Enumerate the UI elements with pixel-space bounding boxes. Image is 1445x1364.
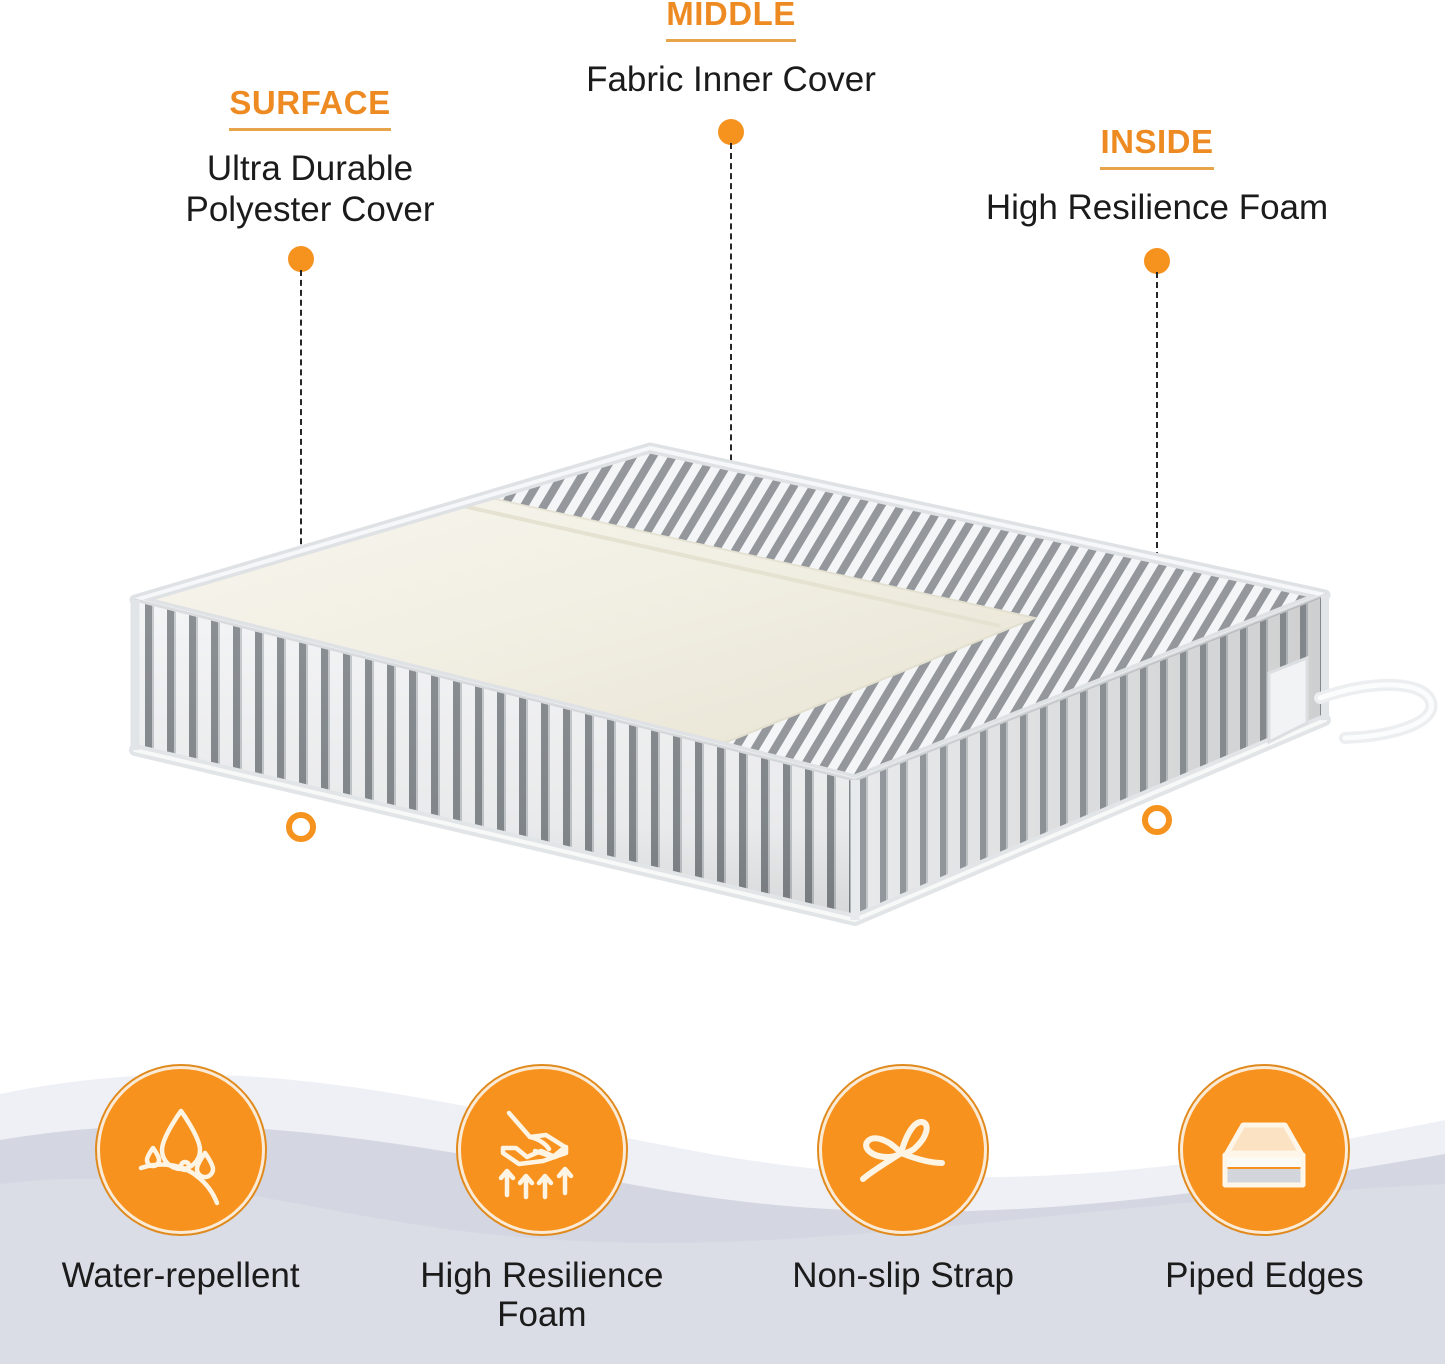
callout-middle-description: Fabric Inner Cover <box>481 59 981 100</box>
callout-surface-kicker: SURFACE <box>229 84 390 131</box>
leader-dot-middle-icon <box>718 119 744 145</box>
feature-label: Non-slip Strap <box>792 1256 1014 1295</box>
callout-middle-kicker: MIDDLE <box>666 0 796 42</box>
feature-water-repellent: Water-repellent <box>0 1034 361 1295</box>
callout-inside-description: High Resilience Foam <box>907 187 1407 228</box>
callout-inside-kicker: INSIDE <box>1100 123 1213 170</box>
feature-label: Piped Edges <box>1165 1256 1363 1295</box>
feature-label: Water-repellent <box>62 1256 300 1295</box>
feature-non-slip-strap: Non-slip Strap <box>723 1034 1084 1295</box>
feature-strip: Water-repellent <box>0 1034 1445 1364</box>
product-infographic: SURFACE Ultra Durable Polyester Cover MI… <box>0 0 1445 1364</box>
callout-middle: MIDDLE Fabric Inner Cover <box>481 0 981 100</box>
non-slip-strap-loop <box>1269 658 1432 742</box>
feature-label: High Resilience Foam <box>420 1256 663 1334</box>
resilience-foam-icon <box>458 1066 626 1234</box>
bow-strap-icon <box>819 1066 987 1234</box>
layered-cushion-icon <box>1180 1066 1348 1234</box>
callout-surface-description: Ultra Durable Polyester Cover <box>60 148 560 231</box>
callout-surface: SURFACE Ultra Durable Polyester Cover <box>60 84 560 231</box>
feature-piped-edges: Piped Edges <box>1084 1034 1445 1295</box>
water-droplet-icon <box>97 1066 265 1234</box>
callout-inside: INSIDE High Resilience Foam <box>907 123 1407 228</box>
feature-high-resilience-foam: High Resilience Foam <box>361 1034 722 1334</box>
product-image <box>95 420 1445 980</box>
leader-dot-inside-icon <box>1144 248 1170 274</box>
leader-dot-surface-icon <box>288 246 314 272</box>
